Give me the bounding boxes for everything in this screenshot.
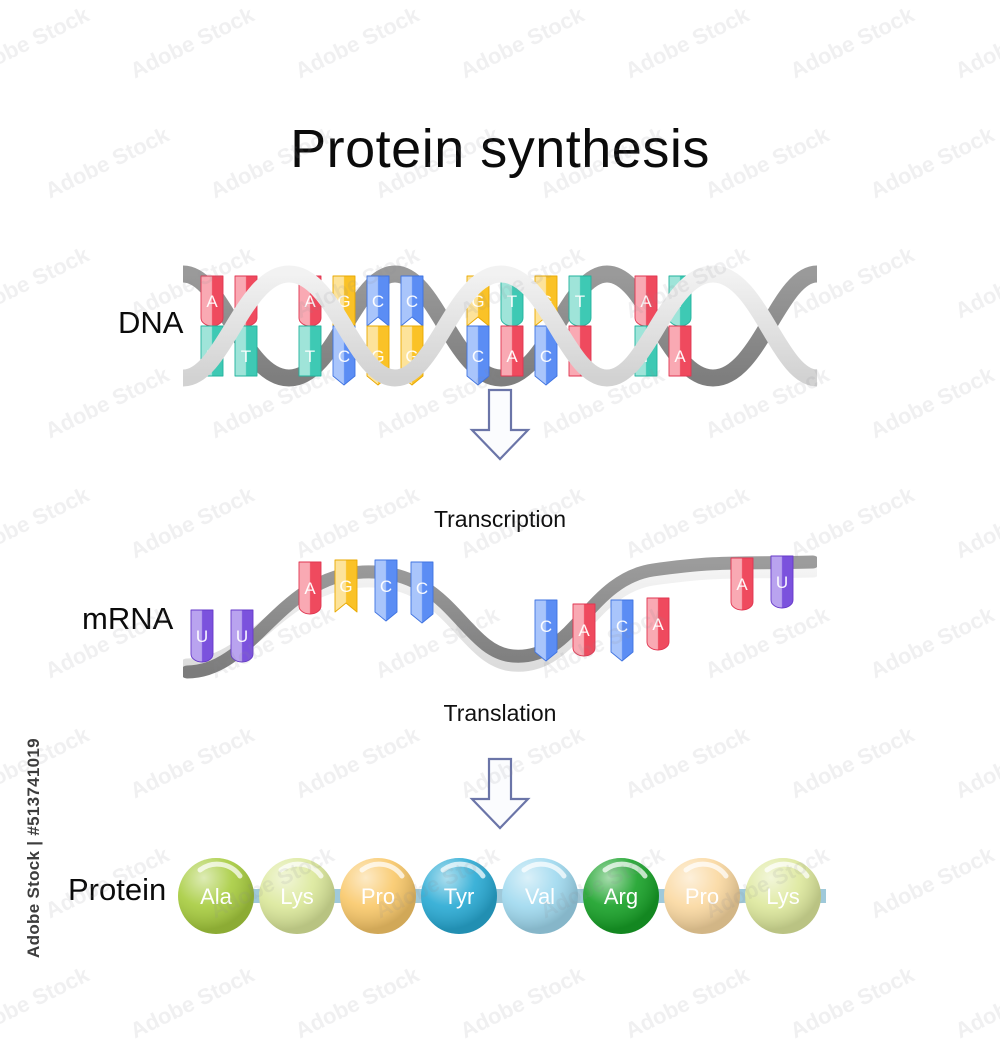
- nucleotide-G: G: [335, 560, 357, 612]
- process-label-translation: Translation: [0, 700, 1000, 727]
- nucleotide-A: A: [201, 276, 223, 326]
- dna-helix-svg: ATATATGCCGCGGCTAGCTAATTA: [183, 262, 817, 390]
- svg-text:C: C: [540, 617, 552, 636]
- svg-text:T: T: [575, 292, 585, 311]
- svg-text:Tyr: Tyr: [444, 884, 475, 909]
- svg-text:Arg: Arg: [604, 884, 638, 909]
- svg-text:A: A: [578, 621, 590, 640]
- svg-text:T: T: [241, 347, 251, 366]
- amino-acid-lys: Lys: [745, 858, 821, 934]
- helix-front-ribbon: [183, 274, 817, 378]
- amino-acid-pro: Pro: [340, 858, 416, 934]
- watermark-text: Adobe Stock: [456, 2, 588, 84]
- svg-text:C: C: [380, 577, 392, 596]
- nucleotide-U: U: [231, 610, 253, 662]
- transcription-arrow-icon: [468, 388, 532, 462]
- svg-text:U: U: [236, 627, 248, 646]
- watermark-text: Adobe Stock: [0, 962, 93, 1044]
- watermark-text: Adobe Stock: [0, 242, 93, 324]
- nucleotide-C: C: [411, 562, 433, 623]
- translation-arrow-icon: [468, 757, 532, 831]
- helix-back-ribbon: [183, 274, 817, 378]
- svg-text:Pro: Pro: [361, 884, 395, 909]
- nucleotide-T: T: [569, 276, 591, 326]
- watermark-text: Adobe Stock: [951, 2, 1000, 84]
- nucleotide-C: C: [611, 600, 633, 661]
- nucleotide-A: A: [731, 558, 753, 610]
- nucleotide-C: C: [535, 600, 557, 661]
- nucleotide-A: A: [647, 598, 669, 650]
- svg-text:Ala: Ala: [200, 884, 233, 909]
- svg-text:C: C: [616, 617, 628, 636]
- watermark-text: Adobe Stock: [866, 602, 998, 684]
- nucleotide-C: C: [467, 326, 489, 385]
- nucleotide-A: A: [501, 326, 523, 376]
- stage-label-dna: DNA: [118, 305, 183, 341]
- watermark-text: Adobe Stock: [786, 722, 918, 804]
- svg-text:C: C: [372, 292, 384, 311]
- svg-text:U: U: [196, 627, 208, 646]
- stock-credit-watermark: Adobe Stock | #513741019: [24, 728, 44, 968]
- watermark-text: Adobe Stock: [291, 2, 423, 84]
- watermark-text: Adobe Stock: [291, 722, 423, 804]
- nucleotide-U: U: [191, 610, 213, 662]
- nucleotide-A: A: [299, 562, 321, 614]
- watermark-text: Adobe Stock: [126, 722, 258, 804]
- svg-text:C: C: [540, 347, 552, 366]
- watermark-text: Adobe Stock: [0, 2, 93, 84]
- svg-text:A: A: [652, 615, 664, 634]
- svg-text:A: A: [506, 347, 518, 366]
- watermark-text: Adobe Stock: [126, 2, 258, 84]
- mrna-strand-diagram: UUAGCCCACAAU: [183, 548, 817, 680]
- amino-acid-tyr: Tyr: [421, 858, 497, 934]
- nucleotide-C: C: [367, 276, 389, 326]
- watermark-text: Adobe Stock: [621, 962, 753, 1044]
- svg-text:A: A: [640, 292, 652, 311]
- watermark-text: Adobe Stock: [126, 962, 258, 1044]
- svg-text:Pro: Pro: [685, 884, 719, 909]
- protein-chain-diagram: AlaLysProTyrValArgProLys: [176, 848, 826, 944]
- svg-text:Lys: Lys: [766, 884, 799, 909]
- amino-acid-pro: Pro: [664, 858, 740, 934]
- svg-text:A: A: [304, 579, 316, 598]
- nucleotide-C: C: [401, 276, 423, 326]
- nucleotide-A: A: [573, 604, 595, 656]
- watermark-text: Adobe Stock: [951, 962, 1000, 1044]
- amino-acid-arg: Arg: [583, 858, 659, 934]
- page-title: Protein synthesis: [0, 118, 1000, 180]
- nucleotide-U: U: [771, 556, 793, 608]
- nucleotide-A: A: [669, 326, 691, 376]
- svg-text:Lys: Lys: [280, 884, 313, 909]
- svg-text:C: C: [416, 579, 428, 598]
- stage-label-mrna: mRNA: [82, 601, 173, 637]
- stage-label-protein: Protein: [68, 872, 166, 908]
- svg-text:Val: Val: [525, 884, 555, 909]
- watermark-text: Adobe Stock: [621, 2, 753, 84]
- watermark-text: Adobe Stock: [866, 362, 998, 444]
- svg-text:C: C: [406, 292, 418, 311]
- amino-acid-lys: Lys: [259, 858, 335, 934]
- svg-text:G: G: [339, 577, 352, 596]
- watermark-text: Adobe Stock: [786, 2, 918, 84]
- dna-double-helix-diagram: ATATATGCCGCGGCTAGCTAATTA: [183, 262, 817, 390]
- watermark-text: Adobe Stock: [621, 722, 753, 804]
- watermark-text: Adobe Stock: [866, 842, 998, 924]
- mrna-svg: UUAGCCCACAAU: [183, 548, 817, 680]
- watermark-text: Adobe Stock: [951, 722, 1000, 804]
- svg-text:A: A: [736, 575, 748, 594]
- svg-text:T: T: [507, 292, 517, 311]
- watermark-text: Adobe Stock: [0, 722, 93, 804]
- process-label-transcription: Transcription: [0, 506, 1000, 533]
- watermark-text: Adobe Stock: [41, 362, 173, 444]
- protein-chain-svg: AlaLysProTyrValArgProLys: [176, 848, 826, 944]
- watermark-text: Adobe Stock: [456, 962, 588, 1044]
- watermark-text: Adobe Stock: [951, 242, 1000, 324]
- amino-acid-ala: Ala: [178, 858, 254, 934]
- svg-text:A: A: [206, 292, 218, 311]
- watermark-text: Adobe Stock: [786, 962, 918, 1044]
- watermark-text: Adobe Stock: [291, 962, 423, 1044]
- svg-text:T: T: [305, 347, 315, 366]
- svg-text:C: C: [338, 347, 350, 366]
- amino-acid-val: Val: [502, 858, 578, 934]
- svg-text:C: C: [472, 347, 484, 366]
- nucleotide-T: T: [299, 326, 321, 376]
- svg-text:A: A: [674, 347, 686, 366]
- svg-text:U: U: [776, 573, 788, 592]
- nucleotide-C: C: [375, 560, 397, 621]
